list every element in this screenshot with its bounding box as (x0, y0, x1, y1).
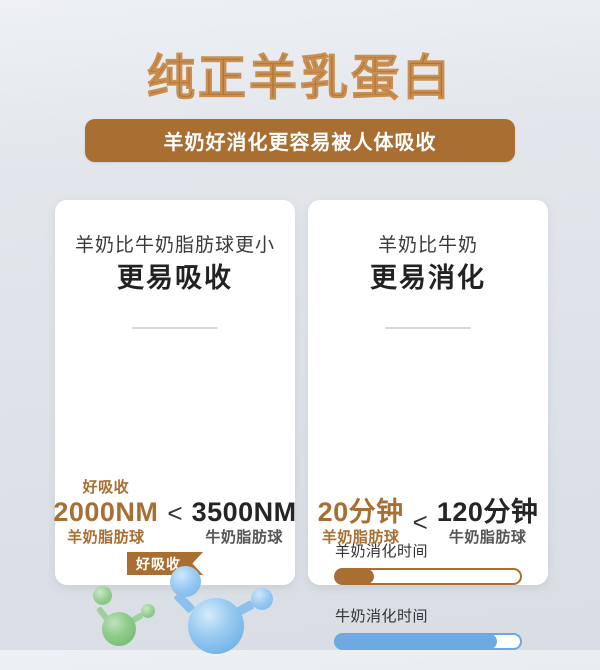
divider (385, 327, 471, 329)
bar-label-cow: 牛奶消化时间 (335, 605, 548, 626)
comparison-left-goat: 20分钟 羊奶脂肪球 (318, 497, 404, 547)
divider (132, 327, 218, 329)
card-digestion: 羊奶比牛奶 更易消化 羊奶消化时间 牛奶消化时间 20分钟 羊奶脂肪球 (308, 200, 548, 585)
comparison-right-value: 120分钟 (437, 497, 539, 528)
comparison-left-value: 20分钟 (318, 497, 404, 528)
page-title: 纯正羊乳蛋白 (0, 38, 600, 108)
comparison-left-note: 羊奶脂肪球 (318, 528, 404, 547)
card-absorption-subheading: 羊奶比牛奶脂肪球更小 (55, 233, 295, 259)
comparison-digestion: 20分钟 羊奶脂肪球 < 120分钟 牛奶脂肪球 (308, 497, 548, 547)
comparison-left-goat: 好吸收 2000NM 羊奶脂肪球 (53, 478, 158, 547)
cow-molecule-satellite-icon (251, 588, 273, 610)
comparison-left-value: 2000NM (53, 497, 158, 528)
subtitle-banner-label: 羊奶好消化更容易被人体吸收 (164, 126, 437, 155)
card-absorption-heading: 羊奶比牛奶脂肪球更小 更易吸收 (55, 233, 295, 295)
bar-track-goat (334, 568, 522, 585)
cow-molecule-icon (188, 598, 244, 654)
card-absorption-title: 更易吸收 (55, 261, 295, 295)
goat-molecule-icon (102, 612, 136, 646)
comparison-left-note: 羊奶脂肪球 (53, 528, 158, 547)
bar-fill-goat (335, 569, 374, 584)
digestion-bar-chart: 羊奶消化时间 牛奶消化时间 (308, 540, 548, 670)
card-absorption: 羊奶比牛奶脂肪球更小 更易吸收 好吸收 好吸收 2000NM 羊奶脂肪球 (55, 200, 295, 585)
goat-molecule-satellite-icon (141, 604, 155, 618)
less-than-icon: < (413, 509, 428, 535)
comparison-right-cow: 120分钟 牛奶脂肪球 (437, 497, 539, 547)
comparison-left-tag: 好吸收 (53, 478, 158, 497)
comparison-absorption: 好吸收 2000NM 羊奶脂肪球 < 3500NM 牛奶脂肪球 (55, 478, 295, 547)
goat-molecule-satellite-icon (93, 586, 112, 605)
comparison-right-note: 牛奶脂肪球 (437, 528, 539, 547)
card-digestion-title: 更易消化 (308, 261, 548, 295)
comparison-right-note: 牛奶脂肪球 (192, 528, 297, 547)
cow-molecule-satellite-icon (170, 566, 201, 597)
card-digestion-subheading: 羊奶比牛奶 (308, 233, 548, 259)
comparison-right-value: 3500NM (192, 497, 297, 528)
less-than-icon: < (167, 500, 182, 526)
bar-track-cow (334, 633, 522, 650)
subtitle-banner: 羊奶好消化更容易被人体吸收 (85, 119, 515, 162)
molecule-illustration (55, 566, 295, 662)
bar-block-cow: 牛奶消化时间 (308, 605, 548, 650)
comparison-right-tag-spacer (192, 478, 297, 497)
promo-page: 纯正羊乳蛋白 羊奶好消化更容易被人体吸收 羊奶比牛奶脂肪球更小 更易吸收 好吸收 (0, 0, 600, 650)
bar-fill-cow (335, 634, 497, 649)
card-digestion-heading: 羊奶比牛奶 更易消化 (308, 233, 548, 295)
comparison-right-cow: 3500NM 牛奶脂肪球 (192, 478, 297, 547)
